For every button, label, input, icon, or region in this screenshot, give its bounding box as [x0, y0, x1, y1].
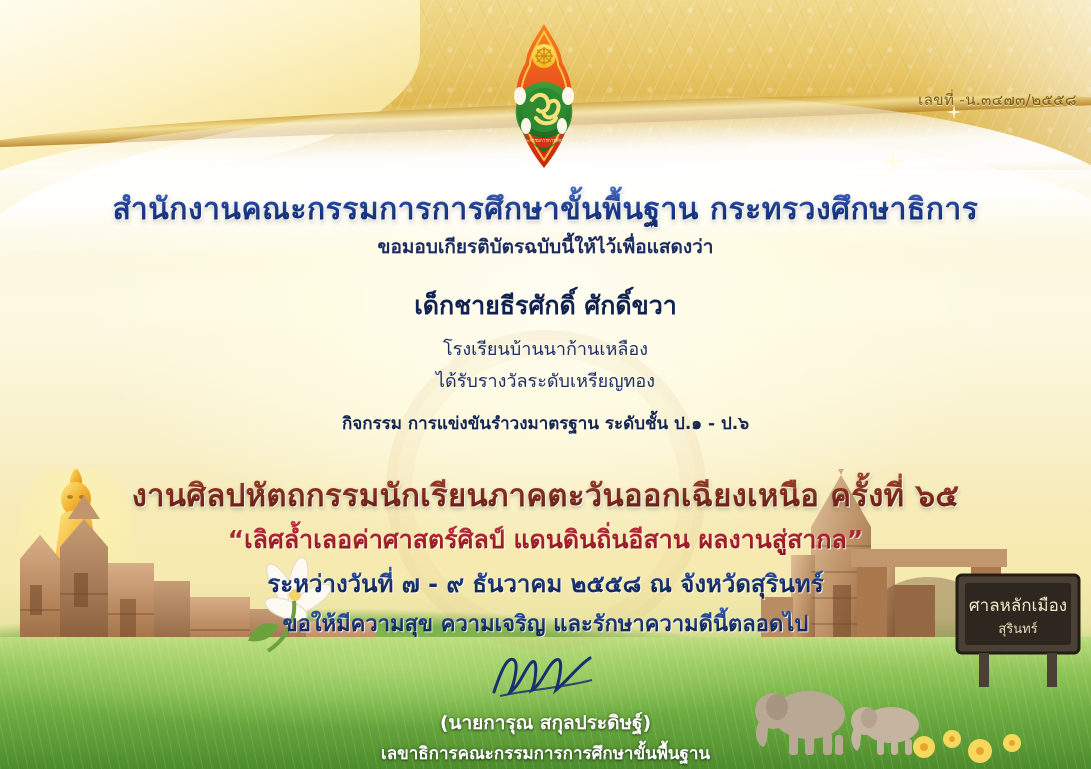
recipient-name: เด็กชายธีรศักดิ์ ศักดิ์ขวา [0, 286, 1091, 326]
signatory-name: (นายการุณ สกุลประดิษฐ์) [0, 708, 1091, 738]
award-statement: ขอมอบเกียรติบัตรฉบับนี้ให้ไว้เพื่อแสดงว่… [0, 232, 1091, 262]
reference-number: เลขที่ -น.๓๔๗๓/๒๕๕๘ [918, 88, 1077, 112]
certificate-content: เลขที่ -น.๓๔๗๓/๒๕๕๘ สำนักงานคณะกรรมการกา… [0, 0, 1091, 769]
event-title: งานศิลปหัตถกรรมนักเรียนภาคตะวันออกเฉียงเ… [0, 470, 1091, 520]
signatory-role: เลขาธิการคณะกรรมการการศึกษาขั้นพื้นฐาน [0, 740, 1091, 767]
event-slogan: “เลิศล้ำเลอค่าศาสตร์ศิลป์ แดนดินถิ่นอีสา… [0, 520, 1091, 560]
certificate-canvas: ศาลหลักเมือง สุรินทร์ [0, 0, 1091, 769]
school-name: โรงเรียนบ้านนาก้านเหลือง [0, 334, 1091, 363]
blessing-text: ขอให้มีความสุข ความเจริญ และรักษาความดีน… [0, 606, 1091, 641]
award-level: ได้รับรางวัลระดับเหรียญทอง [0, 366, 1091, 395]
handwritten-signature-icon [486, 650, 606, 702]
event-dates: ระหว่างวันที่ ๗ - ๙ ธันวาคม ๒๕๕๘ ณ จังหว… [0, 564, 1091, 603]
organization-title: สำนักงานคณะกรรมการการศึกษาขั้นพื้นฐาน กร… [0, 186, 1091, 233]
activity-description: กิจกรรม การแข่งขันรำวงมาตรฐาน ระดับชั้น … [0, 410, 1091, 437]
